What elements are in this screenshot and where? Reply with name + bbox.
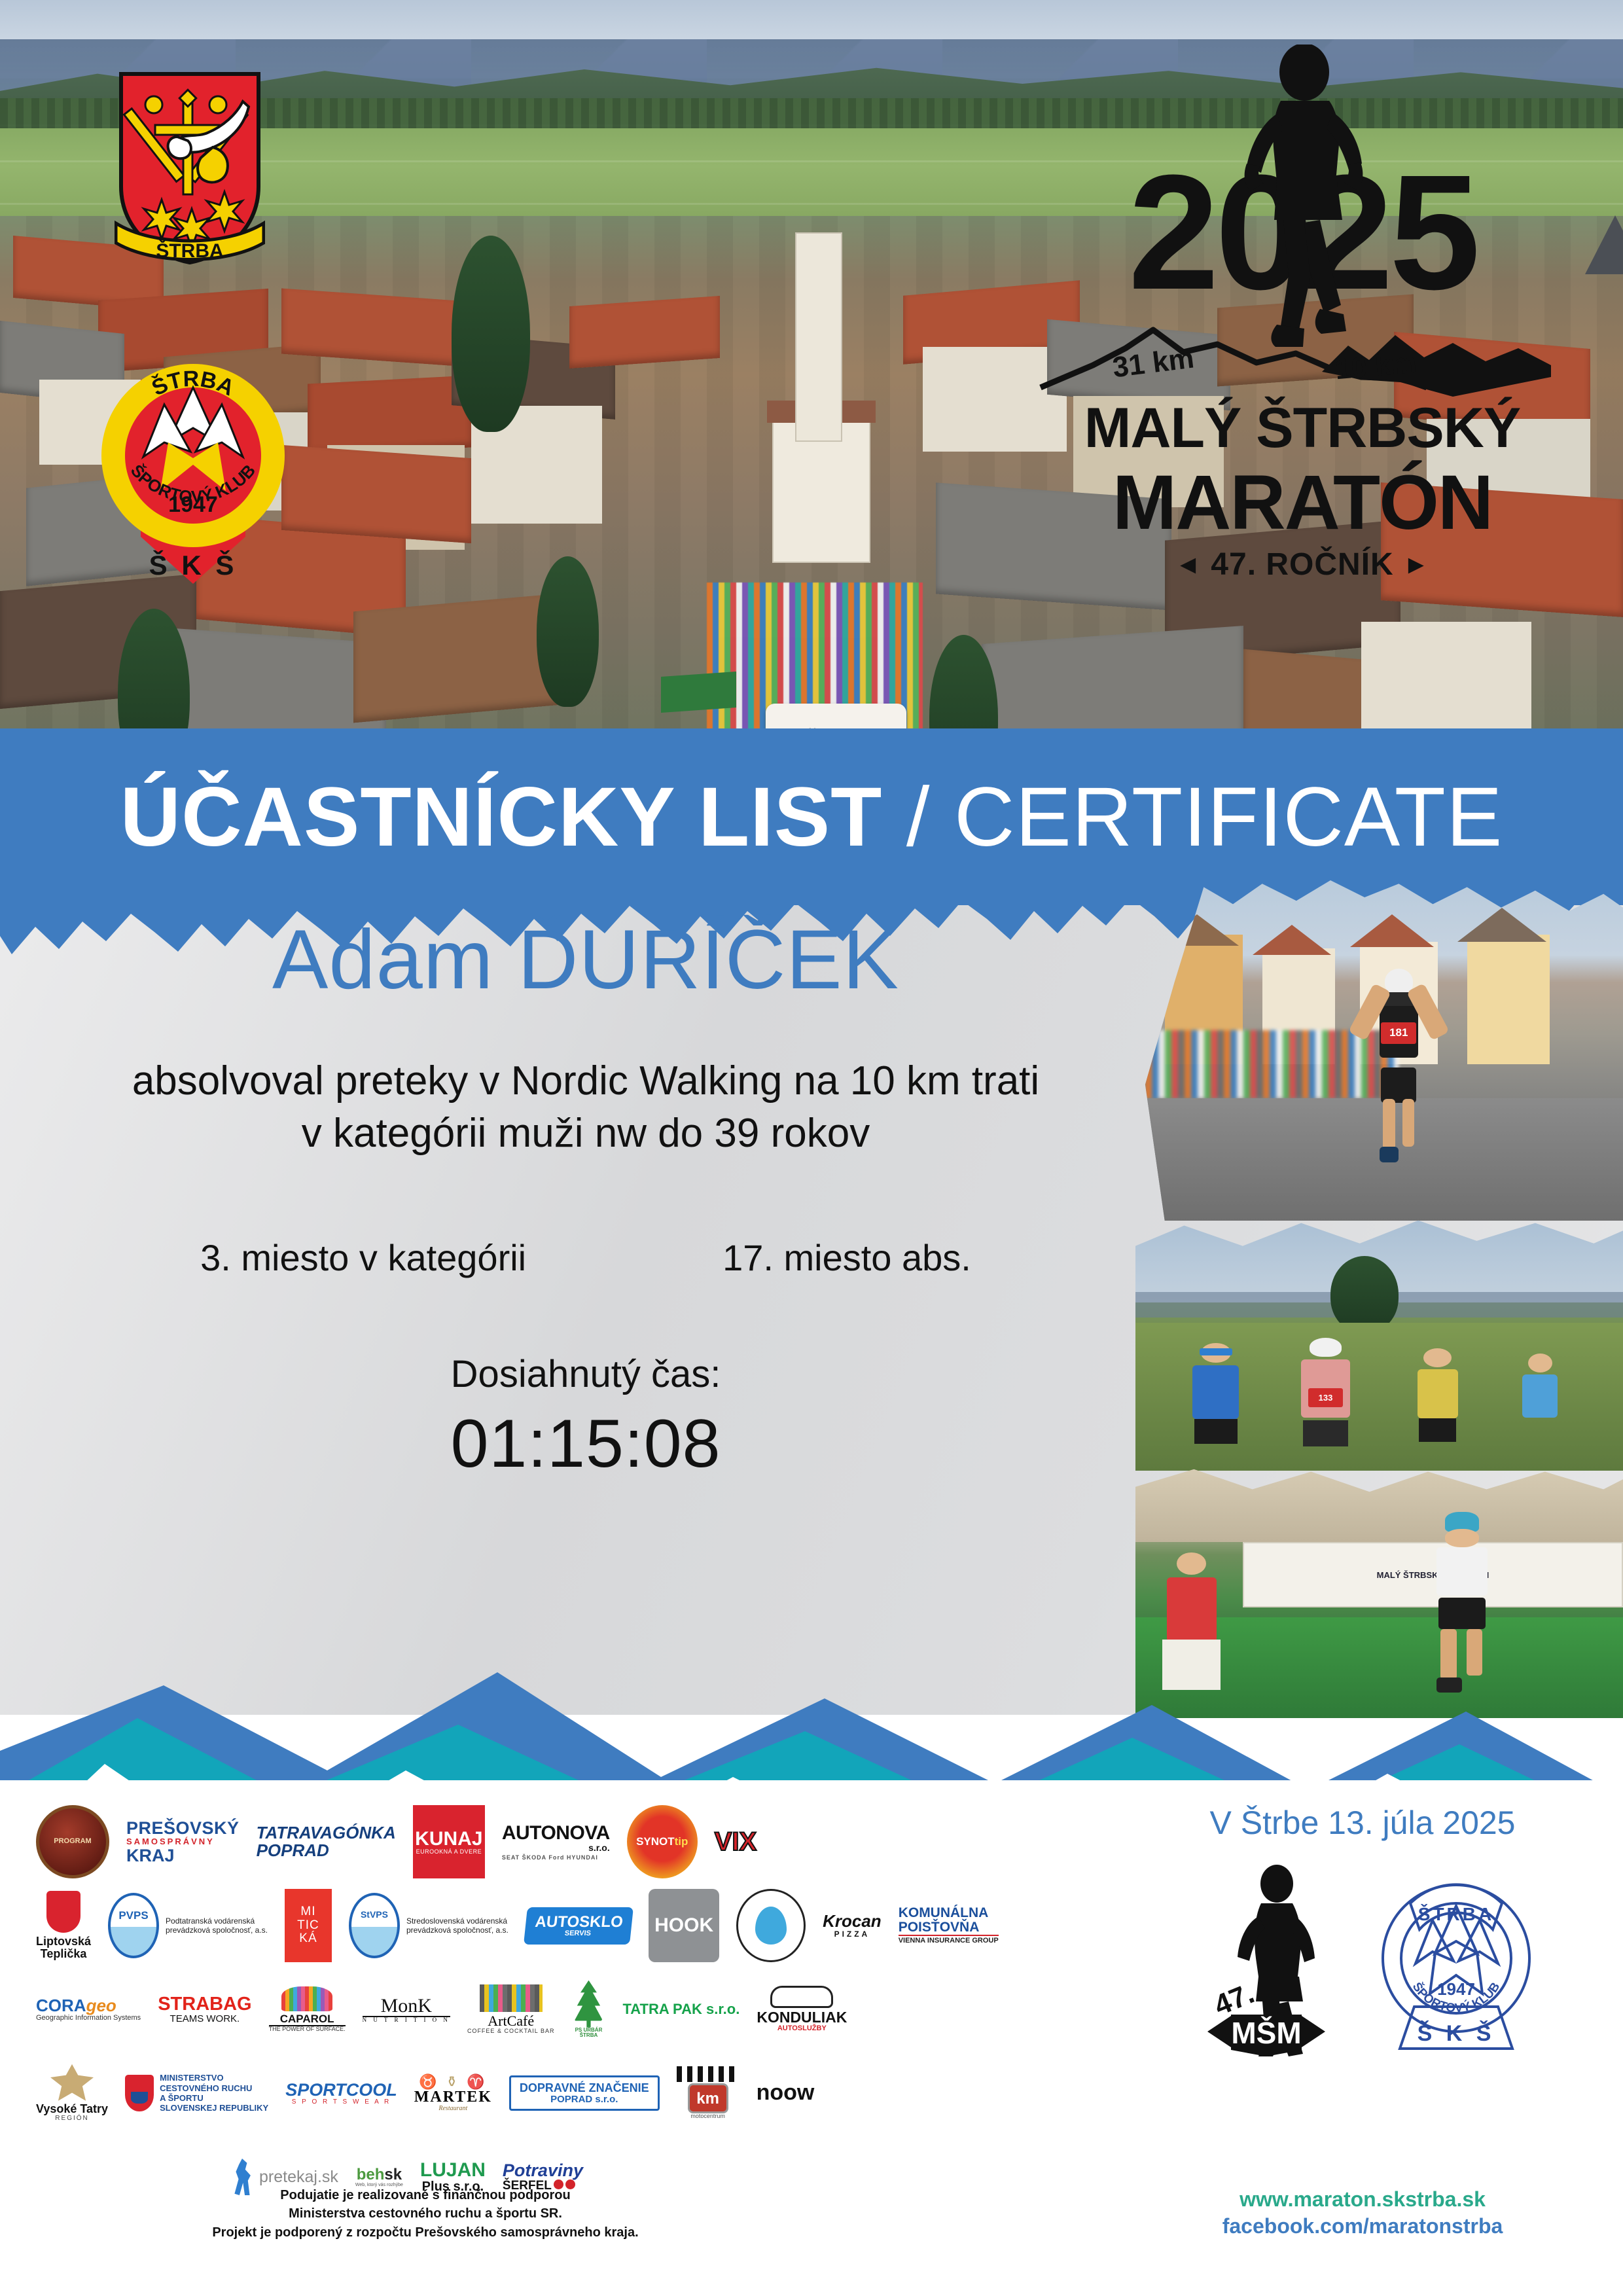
urbar-tree-icon [571, 1981, 605, 2028]
sponsor-noow[interactable]: noow [757, 2056, 815, 2130]
stamps-row: 47. MŠM [1133, 1860, 1592, 2060]
sponsor-row-4: Vysoké Tatry REGIÓN MINISTERSTVO CESTOVN… [36, 2051, 1135, 2135]
kunaj-line2: EUROOKNÁ A DVERE [416, 1849, 482, 1855]
monk-line1: MonK [363, 1996, 450, 2018]
sponsor-program-trencin[interactable]: PROGRAM [36, 1805, 109, 1878]
race-edition: ◄ 47. ROČNÍK ► [1034, 547, 1571, 583]
sponsor-dopravne-znacenie-poprad[interactable]: DOPRAVNÉ ZNAČENIE POPRAD s.r.o. [509, 2056, 660, 2130]
sks-club-emblem: 1947 ŠTRBA ŠPORTOVÝ KLUB Š K Š [101, 327, 285, 589]
caparol-line1: CAPAROL [269, 2013, 346, 2026]
sponsor-vix[interactable]: VIX [715, 1805, 757, 1878]
presov-line3: KRAJ [126, 1846, 240, 1865]
krocan-line1: Krocan [823, 1912, 882, 1930]
km-badge: km [688, 2083, 728, 2113]
martek-cutlery-icon: ♉ ⚱ ♈ [414, 2074, 492, 2089]
title-separator: / [882, 770, 954, 864]
sponsor-autonova[interactable]: AUTONOVA s.r.o. SEAT ŠKODA Ford HYUNDAI [502, 1805, 610, 1878]
lujan-line1: LUJAN [420, 2160, 486, 2181]
komunalna-line2: POISŤOVŇA [899, 1920, 999, 1935]
presov-line2: SAMOSPRÁVNY [126, 1837, 240, 1846]
sponsor-presovsky-kraj[interactable]: PREŠOVSKÝ SAMOSPRÁVNY KRAJ [126, 1805, 240, 1878]
sponsor-hook[interactable]: HOOK [649, 1889, 719, 1962]
sponsor-stvps[interactable]: StVPS Stredoslovenská vodárenská prevádz… [349, 1889, 508, 1962]
runners-on-hill-photo: 133 [1135, 1215, 1623, 1471]
facebook-url[interactable]: facebook.com/maratonstrba [1133, 2213, 1592, 2240]
corageo-line1: CORA [36, 1996, 86, 2015]
caparol-line2: THE POWER OF SURFACE. [269, 2026, 346, 2032]
autonova-line1: AUTONOVA [502, 1823, 610, 1844]
komunalna-line3: VIENNA INSURANCE GROUP [899, 1935, 999, 1945]
sponsor-vysoke-tatry-region[interactable]: Vysoké Tatry REGIÓN [36, 2056, 108, 2130]
presov-line1: PREŠOVSKÝ [126, 1819, 240, 1837]
title-secondary: CERTIFICATE [954, 770, 1503, 864]
sponsor-corageo[interactable]: CORAgeo Geographic Information Systems [36, 1973, 141, 2046]
potraviny-line1: Potraviny [503, 2161, 583, 2179]
stvps-caption-line1: Stredoslovenská vodárenská [406, 1916, 508, 1926]
hook-label: HOOK [649, 1889, 719, 1962]
sponsor-footer: PROGRAM PREŠOVSKÝ SAMOSPRÁVNY KRAJ TATRA… [0, 1780, 1623, 2296]
miticka-line2: TIC [297, 1919, 319, 1933]
arrow-left-icon: ◄ [1175, 550, 1202, 579]
miticka-line1: MI [300, 1905, 315, 1919]
sponsor-km-motocentrum[interactable]: km motocentrum [677, 2056, 740, 2130]
sponsor-ps-urbar-strba[interactable]: PS URBÁR ŠTRBA [571, 1973, 605, 2046]
konduliak-car-icon [770, 1986, 833, 2008]
strabag-line1: STRABAG [158, 1994, 251, 2014]
title-main: ÚČASTNÍCKY LIST [120, 770, 883, 864]
time-label: Dosiahnutý čas: [0, 1352, 1171, 1396]
church-spire [1585, 215, 1623, 274]
sponsor-martek-restaurant[interactable]: ♉ ⚱ ♈ MARTEK Restaurant [414, 2056, 492, 2130]
autosklo-line2: SERVIS [533, 1930, 622, 1938]
stvps-caption-line2: prevádzková spoločnosť, a.s. [406, 1926, 508, 1935]
absolute-placement: 17. miesto abs. [722, 1236, 971, 1279]
ministerstvo-line3: A ŠPORTU [160, 2093, 268, 2103]
race-logo: 2025 [1034, 39, 1571, 609]
sponsor-miticka[interactable]: MI TIC KÁ [285, 1889, 332, 1962]
sponsor-tatravagonka-poprad[interactable]: TATRAVAGÓNKA POPRAD [257, 1805, 396, 1878]
pvps-badge: PVPS [108, 1893, 159, 1958]
achievement-line-2: v kategórii muži nw do 39 rokov [0, 1107, 1171, 1159]
strabag-line2: TEAMS WORK. [158, 2014, 251, 2024]
liptovska-teplicka-shield-icon [46, 1891, 80, 1933]
pretekaj-label: pretekaj.sk [259, 2168, 338, 2185]
martek-line1: MARTEK [414, 2089, 492, 2106]
certificate-title-band: ÚČASTNÍCKY LIST / CERTIFICATE [0, 728, 1623, 905]
stamp-club-abbr: Š K Š [1418, 2020, 1495, 2046]
vysoke-tatry-icon [50, 2064, 94, 2101]
certificate-content: Adam ĎURÍČEK absolvoval preteky v Nordic… [0, 916, 1171, 1483]
website-url[interactable]: www.maraton.skstrba.sk [1133, 2186, 1592, 2213]
green-tent [661, 672, 736, 713]
komunalna-line1: KOMUNÁLNA [899, 1906, 999, 1920]
liptovska-line2: Teplička [36, 1948, 91, 1960]
sks-club-round-stamp: ŠTRBA 1947 ŠPORTOVÝ KLUB Š K Š [1378, 1860, 1535, 2060]
church-tower [795, 232, 842, 442]
running-man-silhouette-icon [1221, 45, 1391, 359]
sponsor-strabag[interactable]: STRABAG TEAMS WORK. [158, 1973, 251, 2046]
sponsor-caparol[interactable]: CAPAROL THE POWER OF SURFACE. [269, 1973, 346, 2046]
finishing-female-runner-photo: 181 [1135, 880, 1623, 1221]
sponsor-monk-nutrition[interactable]: MonK N U T R I T I O N [363, 1973, 450, 2046]
sponsor-program-trencin-label: PROGRAM [54, 1838, 91, 1846]
stamp-club-top: ŠTRBA [1418, 1903, 1494, 1924]
urbar-line2: ŠTRBA [571, 2033, 605, 2038]
checkered-flag-icon [677, 2066, 740, 2082]
autonova-line2: s.r.o. [502, 1843, 610, 1853]
certificate-page: ŠTART [0, 0, 1623, 2296]
arrow-right-icon: ► [1403, 550, 1430, 579]
sponsor-pvps[interactable]: PVPS Podtatranská vodárenská prevádzková… [108, 1889, 268, 1962]
sponsor-pd-strba[interactable] [736, 1889, 806, 1962]
artcafe-bars-icon [480, 1984, 543, 2012]
behsk-line2: sk [384, 2166, 402, 2183]
legal-line-1: Podujatie je realizované s finančnou pod… [39, 2186, 811, 2204]
legal-line-2: Ministerstva cestovného ruchu a športu S… [39, 2204, 811, 2223]
placement-row: 3. miesto v kategórii 17. miesto abs. [0, 1236, 1171, 1279]
km-line2: motocentrum [677, 2113, 740, 2119]
stamp-abbr: MŠM [1231, 2016, 1301, 2050]
achievement-line-1: absolvoval preteky v Nordic Walking na 1… [0, 1055, 1171, 1107]
autosklo-line1: AUTOSKLO [534, 1914, 624, 1930]
vysoke-line2: REGIÓN [36, 2115, 108, 2123]
sponsor-konduliak[interactable]: KONDULIAK AUTOSLUŽBY [757, 1973, 847, 2046]
club-abbr: Š K Š [149, 549, 238, 581]
sponsor-tatrapak[interactable]: TATRA PAK s.r.o. [622, 1973, 740, 2046]
sponsor-synot-tip[interactable]: SYNOTtip [627, 1805, 698, 1878]
stamp-club-year: 1947 [1437, 1979, 1475, 1999]
corageo-tagline: Geographic Information Systems [36, 2015, 141, 2022]
footer-right-column: V Štrbe 13. júla 2025 47. [1133, 1804, 1592, 2060]
finish-time: 01:15:08 [0, 1405, 1171, 1483]
synot-line2: tip [675, 1836, 688, 1848]
miticka-line3: KÁ [299, 1932, 317, 1946]
pvps-caption: Podtatranská vodárenská prevádzková spol… [166, 1916, 268, 1935]
behsk-line1: beh [357, 2166, 385, 2183]
konduliak-line1: KONDULIAK [757, 2009, 847, 2025]
slovak-coat-of-arms-icon [125, 2075, 154, 2111]
pvps-caption-line2: prevádzková spoločnosť, a.s. [166, 1926, 268, 1935]
athlete-name: Adam ĎURÍČEK [0, 916, 1171, 1004]
artcafe-line2: COFFEE & COCKTAIL BAR [467, 2028, 555, 2034]
legal-note: Podujatie je realizované s finančnou pod… [39, 2186, 811, 2242]
sponsor-komunalna-poistovna[interactable]: KOMUNÁLNA POISŤOVŇA VIENNA INSURANCE GRO… [899, 1889, 999, 1962]
race-edition-label: 47. ROČNÍK [1211, 547, 1393, 582]
sponsor-row-2: Liptovská Teplička PVPS Podtatranská vod… [36, 1884, 1135, 1967]
sponsor-artcafe[interactable]: ArtCafé COFFEE & COCKTAIL BAR [467, 1973, 555, 2046]
kunaj-line1: KUNAJ [415, 1829, 482, 1850]
tatravagonka-line1: TATRAVAGÓNKA [257, 1824, 396, 1842]
sponsor-sportcool[interactable]: SPORTCOOL S P O R T S W E A R [285, 2056, 397, 2130]
strba-coat-of-arms: ŠTRBA [115, 69, 262, 265]
sportcool-line1: SPORTCOOL [285, 2081, 397, 2099]
krocan-line2: PIZZA [823, 1930, 882, 1939]
ministerstvo-line1: MINISTERSTVO [160, 2073, 268, 2083]
photo-collage: 181 [1135, 880, 1623, 1718]
autonova-brands: SEAT ŠKODA Ford HYUNDAI [502, 1855, 610, 1861]
sportcool-line2: S P O R T S W E A R [285, 2099, 397, 2106]
category-placement: 3. miesto v kategórii [200, 1236, 526, 1279]
sponsor-kunaj[interactable]: KUNAJ EUROOKNÁ A DVERE [413, 1805, 485, 1878]
ministerstvo-line2: CESTOVNÉHO RUCHU [160, 2083, 268, 2093]
sponsor-grid: PROGRAM PREŠOVSKÝ SAMOSPRÁVNY KRAJ TATRA… [36, 1800, 1135, 2219]
legal-line-3: Projekt je podporený z rozpočtu Prešovsk… [39, 2223, 811, 2242]
msm-runner-stamp: 47. MŠM [1190, 1860, 1341, 2060]
dopravne-line2: POPRAD s.r.o. [520, 2094, 649, 2105]
synot-line1: SYNOT [636, 1836, 675, 1848]
issue-date: V Štrbe 13. júla 2025 [1133, 1804, 1592, 1842]
vysoke-line1: Vysoké Tatry [36, 2103, 108, 2115]
contact-links: www.maraton.skstrba.sk facebook.com/mara… [1133, 2186, 1592, 2240]
sponsor-row-3: CORAgeo Geographic Information Systems S… [36, 1967, 1135, 2051]
liptovska-line1: Liptovská [36, 1935, 91, 1948]
race-name-line2: MARATÓN [1034, 458, 1571, 547]
page-title: ÚČASTNÍCKY LIST / CERTIFICATE [120, 769, 1503, 865]
ministerstvo-line4: SLOVENSKEJ REPUBLIKY [160, 2103, 268, 2113]
achievement-text: absolvoval preteky v Nordic Walking na 1… [0, 1055, 1171, 1159]
bib-number-133: 133 [1308, 1388, 1344, 1407]
monk-line2: N U T R I T I O N [363, 2017, 450, 2023]
sponsor-krocan-pizza[interactable]: Krocan PIZZA [823, 1889, 882, 1962]
tatrapak-label: TATRA PAK s.r.o. [622, 2001, 740, 2017]
sponsor-liptovska-teplicka[interactable]: Liptovská Teplička [36, 1889, 91, 1962]
sponsor-ministerstvo-sr[interactable]: MINISTERSTVO CESTOVNÉHO RUCHU A ŠPORTU S… [125, 2056, 268, 2130]
dopravne-line1: DOPRAVNÉ ZNAČENIE [520, 2082, 649, 2094]
vix-label: VIX [715, 1828, 757, 1856]
konduliak-line2: AUTOSLUŽBY [757, 2025, 847, 2033]
sponsor-row-1: PROGRAM PREŠOVSKÝ SAMOSPRÁVNY KRAJ TATRA… [36, 1800, 1135, 1884]
caparol-elephant-icon [281, 1986, 332, 2011]
tatravagonka-line2: POPRAD [257, 1842, 396, 1859]
race-name-line1: MALÝ ŠTRBSKÝ [1034, 396, 1571, 461]
coat-of-arms-label: ŠTRBA [156, 240, 223, 262]
stvps-caption: Stredoslovenská vodárenská prevádzková s… [406, 1916, 508, 1935]
noow-label: noow [757, 2081, 815, 2105]
bib-number-181: 181 [1381, 1022, 1416, 1044]
martek-line2: Restaurant [414, 2106, 492, 2113]
corageo-line2: geo [86, 1996, 116, 2015]
sponsor-autosklo-servis[interactable]: AUTOSKLO SERVIS [526, 1889, 632, 1962]
stvps-badge: StVPS [349, 1893, 400, 1958]
pd-strba-drop-icon [755, 1907, 787, 1945]
pvps-caption-line1: Podtatranská vodárenská [166, 1916, 268, 1926]
artcafe-line1: ArtCafé [467, 2013, 555, 2028]
